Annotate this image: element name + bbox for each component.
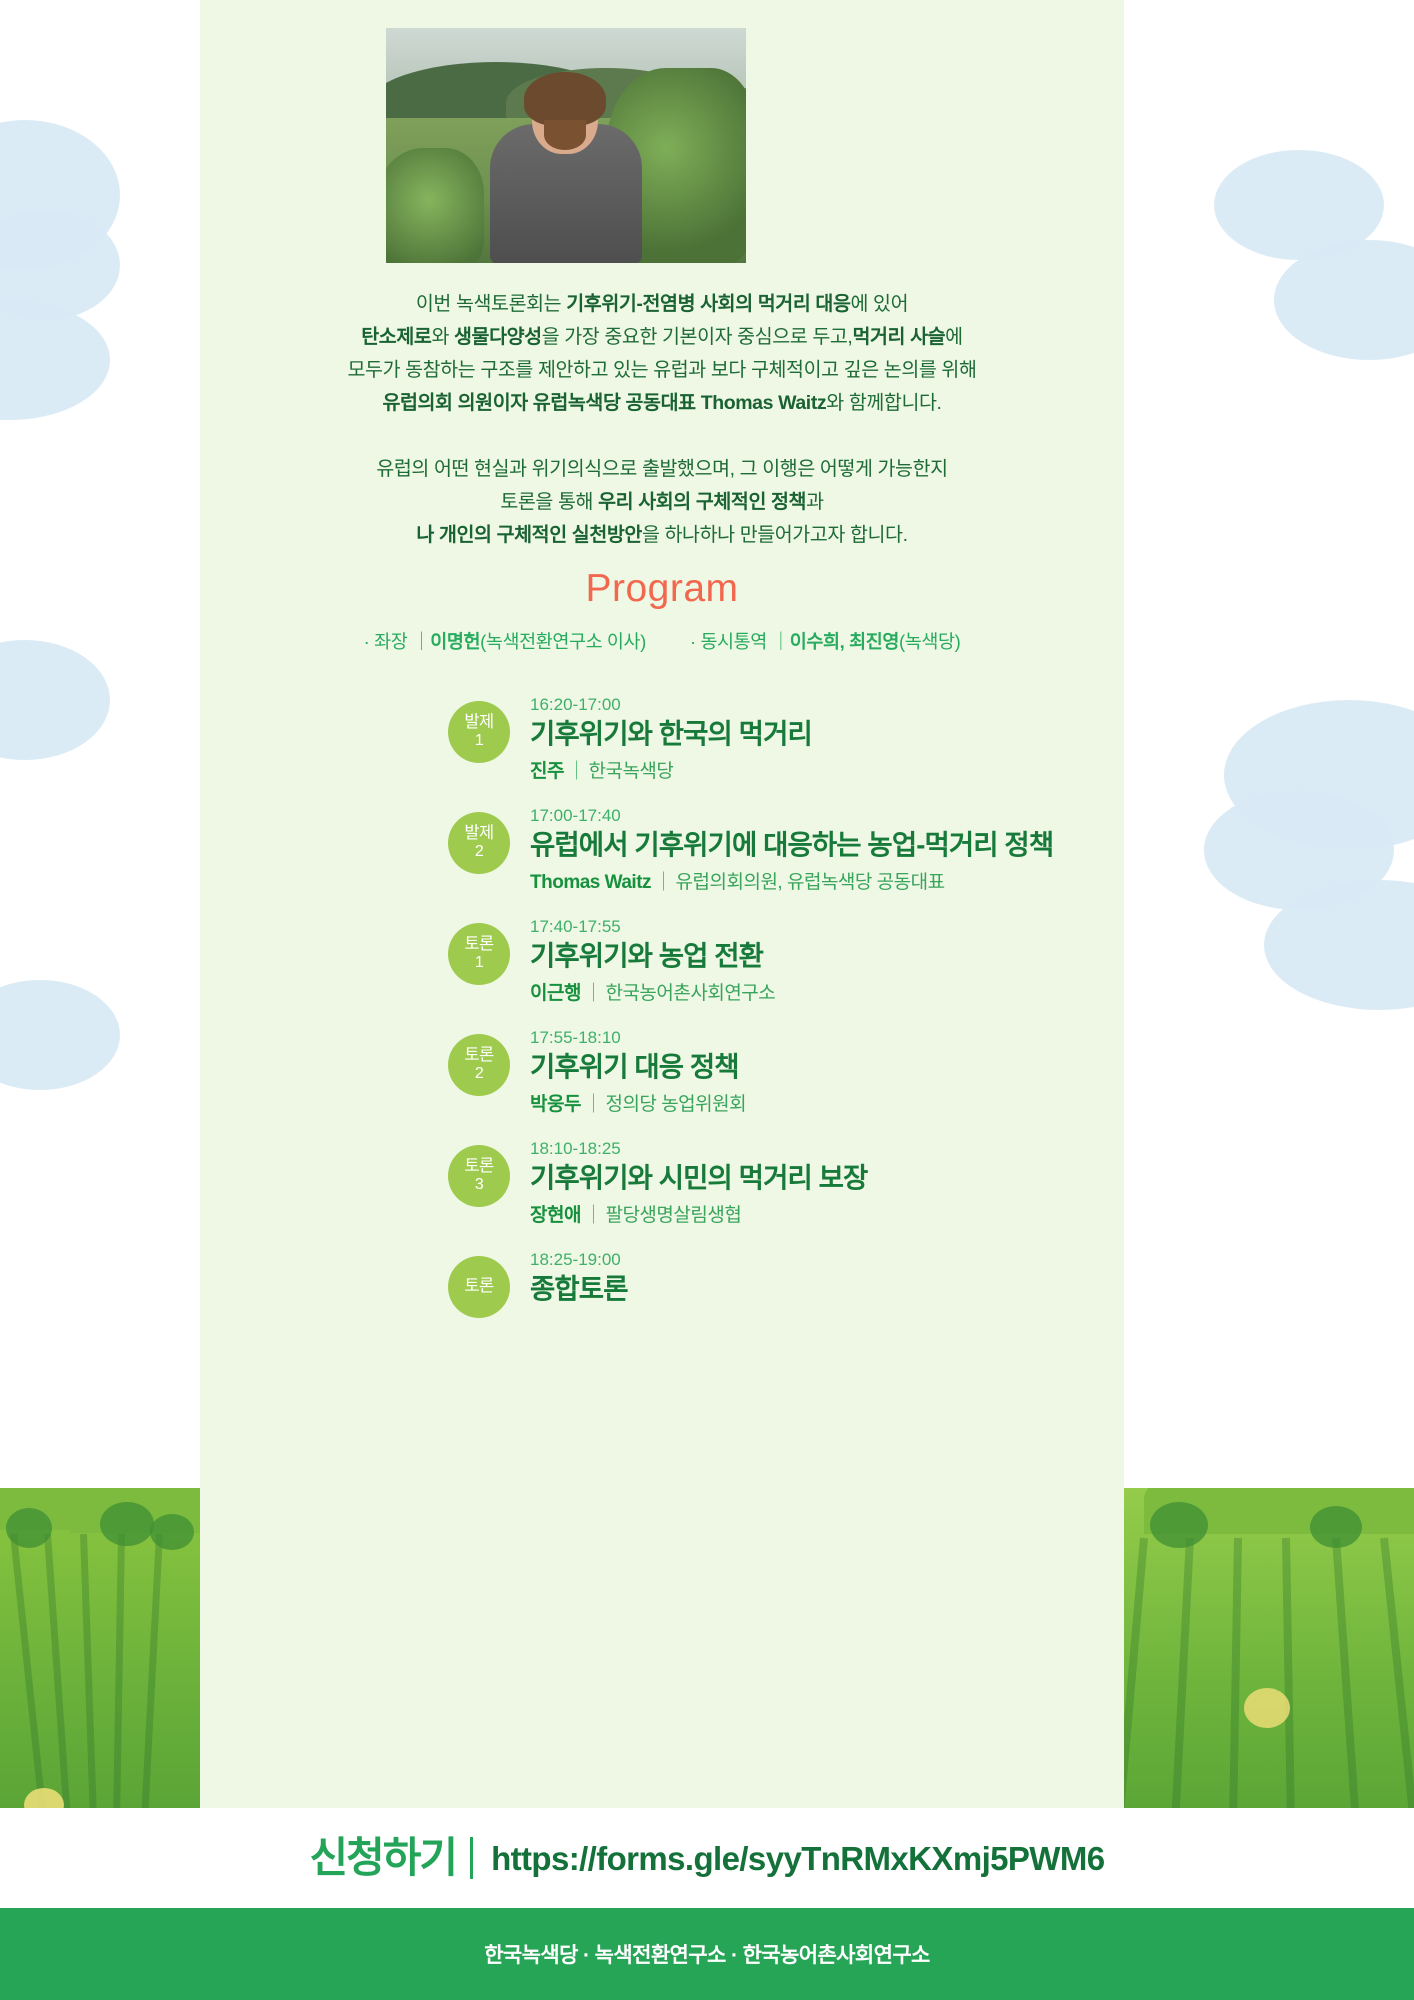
apply-url-link[interactable]: https://forms.gle/syyTnRMxKXmj5PWM6 bbox=[473, 1842, 1104, 1875]
cloud-shape bbox=[0, 980, 120, 1090]
bush-shape bbox=[150, 1514, 194, 1550]
apply-label: 신청하기 bbox=[310, 1837, 474, 1879]
intro-text: 이번 녹색토론회는 기후위기-전염병 사회의 먹거리 대응에 있어 탄소제로와 … bbox=[200, 288, 1124, 552]
program-item: 토론 3 18:10-18:25 기후위기와 시민의 먹거리 보장 장현애｜팔당… bbox=[448, 1139, 1148, 1245]
program-speaker: 이근행｜한국농어촌사회연구소 bbox=[530, 978, 1148, 1005]
intro-line: 이번 녹색토론회는 기후위기-전염병 사회의 먹거리 대응에 있어 bbox=[200, 288, 1124, 321]
speaker-affiliation: 팔당생명살림생협 bbox=[605, 1205, 741, 1226]
person-beard bbox=[544, 120, 586, 150]
badge-number: 1 bbox=[475, 732, 483, 749]
badge-label: 토론 bbox=[464, 1158, 493, 1176]
program-item: 토론 1 17:40-17:55 기후위기와 농업 전환 이근행｜한국농어촌사회… bbox=[448, 917, 1148, 1023]
chair-label: · 좌장 ｜ bbox=[364, 631, 431, 652]
badge-label: 발제 bbox=[464, 714, 493, 732]
speaker-affiliation: 한국농어촌사회연구소 bbox=[605, 983, 775, 1004]
footer-bar: 한국녹색당 · 녹색전환연구소 · 한국농어촌사회연구소 bbox=[0, 1908, 1414, 2000]
bush-shape bbox=[1150, 1502, 1208, 1548]
speaker-affiliation: 한국녹색당 bbox=[588, 761, 673, 782]
bush-shape bbox=[6, 1508, 52, 1548]
hosts-line: · 좌장 ｜이명헌(녹색전환연구소 이사)· 동시통역 ｜이수희, 최진영(녹색… bbox=[200, 628, 1124, 654]
program-item: 발제 1 16:20-17:00 기후위기와 한국의 먹거리 진주｜한국녹색당 bbox=[448, 695, 1148, 801]
speaker-separator: ｜ bbox=[581, 1205, 606, 1226]
interpreter-name: 이수희, 최진영 bbox=[790, 631, 899, 652]
paragraph-gap bbox=[200, 420, 1124, 453]
speaker-affiliation: 정의당 농업위원회 bbox=[605, 1094, 746, 1115]
program-time: 18:10-18:25 bbox=[530, 1139, 1148, 1159]
program-item: 토론 2 17:55-18:10 기후위기 대응 정책 박웅두｜정의당 농업위원… bbox=[448, 1028, 1148, 1134]
badge-label: 토론 bbox=[464, 1278, 493, 1296]
program-title: 기후위기와 농업 전환 bbox=[530, 939, 1148, 973]
program-title: 기후위기 대응 정책 bbox=[530, 1050, 1148, 1084]
program-badge: 토론 bbox=[448, 1256, 510, 1318]
bush-shape bbox=[1310, 1506, 1362, 1548]
speaker-separator: ｜ bbox=[581, 983, 606, 1004]
program-title: 기후위기와 시민의 먹거리 보장 bbox=[530, 1161, 1148, 1195]
footer-organizers: 한국녹색당 · 녹색전환연구소 · 한국농어촌사회연구소 bbox=[484, 1939, 930, 1969]
intro-line: 유럽의 어떤 현실과 위기의식으로 출발했으며, 그 이행은 어떻게 가능한지 bbox=[200, 453, 1124, 486]
speaker-name: 박웅두 bbox=[530, 1094, 581, 1115]
program-time: 17:00-17:40 bbox=[530, 806, 1148, 826]
bush-shape bbox=[1244, 1688, 1290, 1728]
program-speaker: 진주｜한국녹색당 bbox=[530, 756, 1148, 783]
badge-label: 토론 bbox=[464, 936, 493, 954]
program-title: 종합토론 bbox=[530, 1272, 1148, 1306]
speaker-affiliation: 유럽의회의원, 유럽녹색당 공동대표 bbox=[676, 872, 945, 893]
speaker-name: 장현애 bbox=[530, 1205, 581, 1226]
badge-number: 1 bbox=[475, 954, 483, 971]
cloud-shape bbox=[0, 640, 110, 760]
intro-line: 나 개인의 구체적인 실천방안을 하나하나 만들어가고자 합니다. bbox=[200, 519, 1124, 552]
speaker-name: 진주 bbox=[530, 761, 564, 782]
badge-label: 토론 bbox=[464, 1047, 493, 1065]
badge-label: 발제 bbox=[464, 825, 493, 843]
program-badge: 토론 1 bbox=[448, 923, 510, 985]
program-time: 17:55-18:10 bbox=[530, 1028, 1148, 1048]
program-speaker: 박웅두｜정의당 농업위원회 bbox=[530, 1089, 1148, 1116]
intro-line: 토론을 통해 우리 사회의 구체적인 정책과 bbox=[200, 486, 1124, 519]
program-heading: Program bbox=[200, 567, 1124, 611]
speaker-name: Thomas Waitz bbox=[530, 872, 651, 893]
bush-shape bbox=[100, 1502, 154, 1546]
program-item: 발제 2 17:00-17:40 유럽에서 기후위기에 대응하는 농업-먹거리 … bbox=[448, 806, 1148, 912]
program-list: 발제 1 16:20-17:00 기후위기와 한국의 먹거리 진주｜한국녹색당 … bbox=[448, 695, 1148, 1361]
program-title: 유럽에서 기후위기에 대응하는 농업-먹거리 정책 bbox=[530, 828, 1148, 862]
intro-line: 탄소제로와 생물다양성을 가장 중요한 기본이자 중심으로 두고,먹거리 사슬에 bbox=[200, 321, 1124, 354]
program-badge: 토론 3 bbox=[448, 1145, 510, 1207]
program-badge: 토론 2 bbox=[448, 1034, 510, 1096]
program-time: 18:25-19:00 bbox=[530, 1250, 1148, 1270]
speaker-photo bbox=[386, 28, 746, 263]
apply-bar: 신청하기 https://forms.gle/syyTnRMxKXmj5PWM6 bbox=[0, 1808, 1414, 1908]
person-hair bbox=[524, 72, 606, 126]
program-badge: 발제 1 bbox=[448, 701, 510, 763]
cloud-shape bbox=[0, 300, 110, 420]
program-time: 17:40-17:55 bbox=[530, 917, 1148, 937]
speaker-separator: ｜ bbox=[651, 872, 676, 893]
program-speaker: 장현애｜팔당생명살림생협 bbox=[530, 1200, 1148, 1227]
speaker-separator: ｜ bbox=[581, 1094, 606, 1115]
intro-line: 유럽의회 의원이자 유럽녹색당 공동대표 Thomas Waitz와 함께합니다… bbox=[200, 387, 1124, 420]
chair-name: 이명헌 bbox=[430, 631, 480, 652]
program-badge: 발제 2 bbox=[448, 812, 510, 874]
badge-number: 3 bbox=[475, 1176, 483, 1193]
program-speaker: Thomas Waitz｜유럽의회의원, 유럽녹색당 공동대표 bbox=[530, 867, 1148, 894]
program-time: 16:20-17:00 bbox=[530, 695, 1148, 715]
speaker-separator: ｜ bbox=[564, 761, 589, 782]
poster-root: 이번 녹색토론회는 기후위기-전염병 사회의 먹거리 대응에 있어 탄소제로와 … bbox=[0, 0, 1414, 2000]
interpreter-affiliation: (녹색당) bbox=[899, 631, 960, 652]
program-title: 기후위기와 한국의 먹거리 bbox=[530, 717, 1148, 751]
photo-bush bbox=[386, 148, 484, 263]
interpreter-label: · 동시통역 ｜ bbox=[690, 631, 790, 652]
program-item: 토론 18:25-19:00 종합토론 bbox=[448, 1250, 1148, 1356]
intro-line: 모두가 동참하는 구조를 제안하고 있는 유럽과 보다 구체적이고 깊은 논의를… bbox=[200, 354, 1124, 387]
speaker-name: 이근행 bbox=[530, 983, 581, 1004]
content-panel: 이번 녹색토론회는 기후위기-전염병 사회의 먹거리 대응에 있어 탄소제로와 … bbox=[200, 0, 1124, 2000]
chair-affiliation: (녹색전환연구소 이사) bbox=[480, 631, 646, 652]
badge-number: 2 bbox=[475, 1065, 483, 1082]
badge-number: 2 bbox=[475, 843, 483, 860]
